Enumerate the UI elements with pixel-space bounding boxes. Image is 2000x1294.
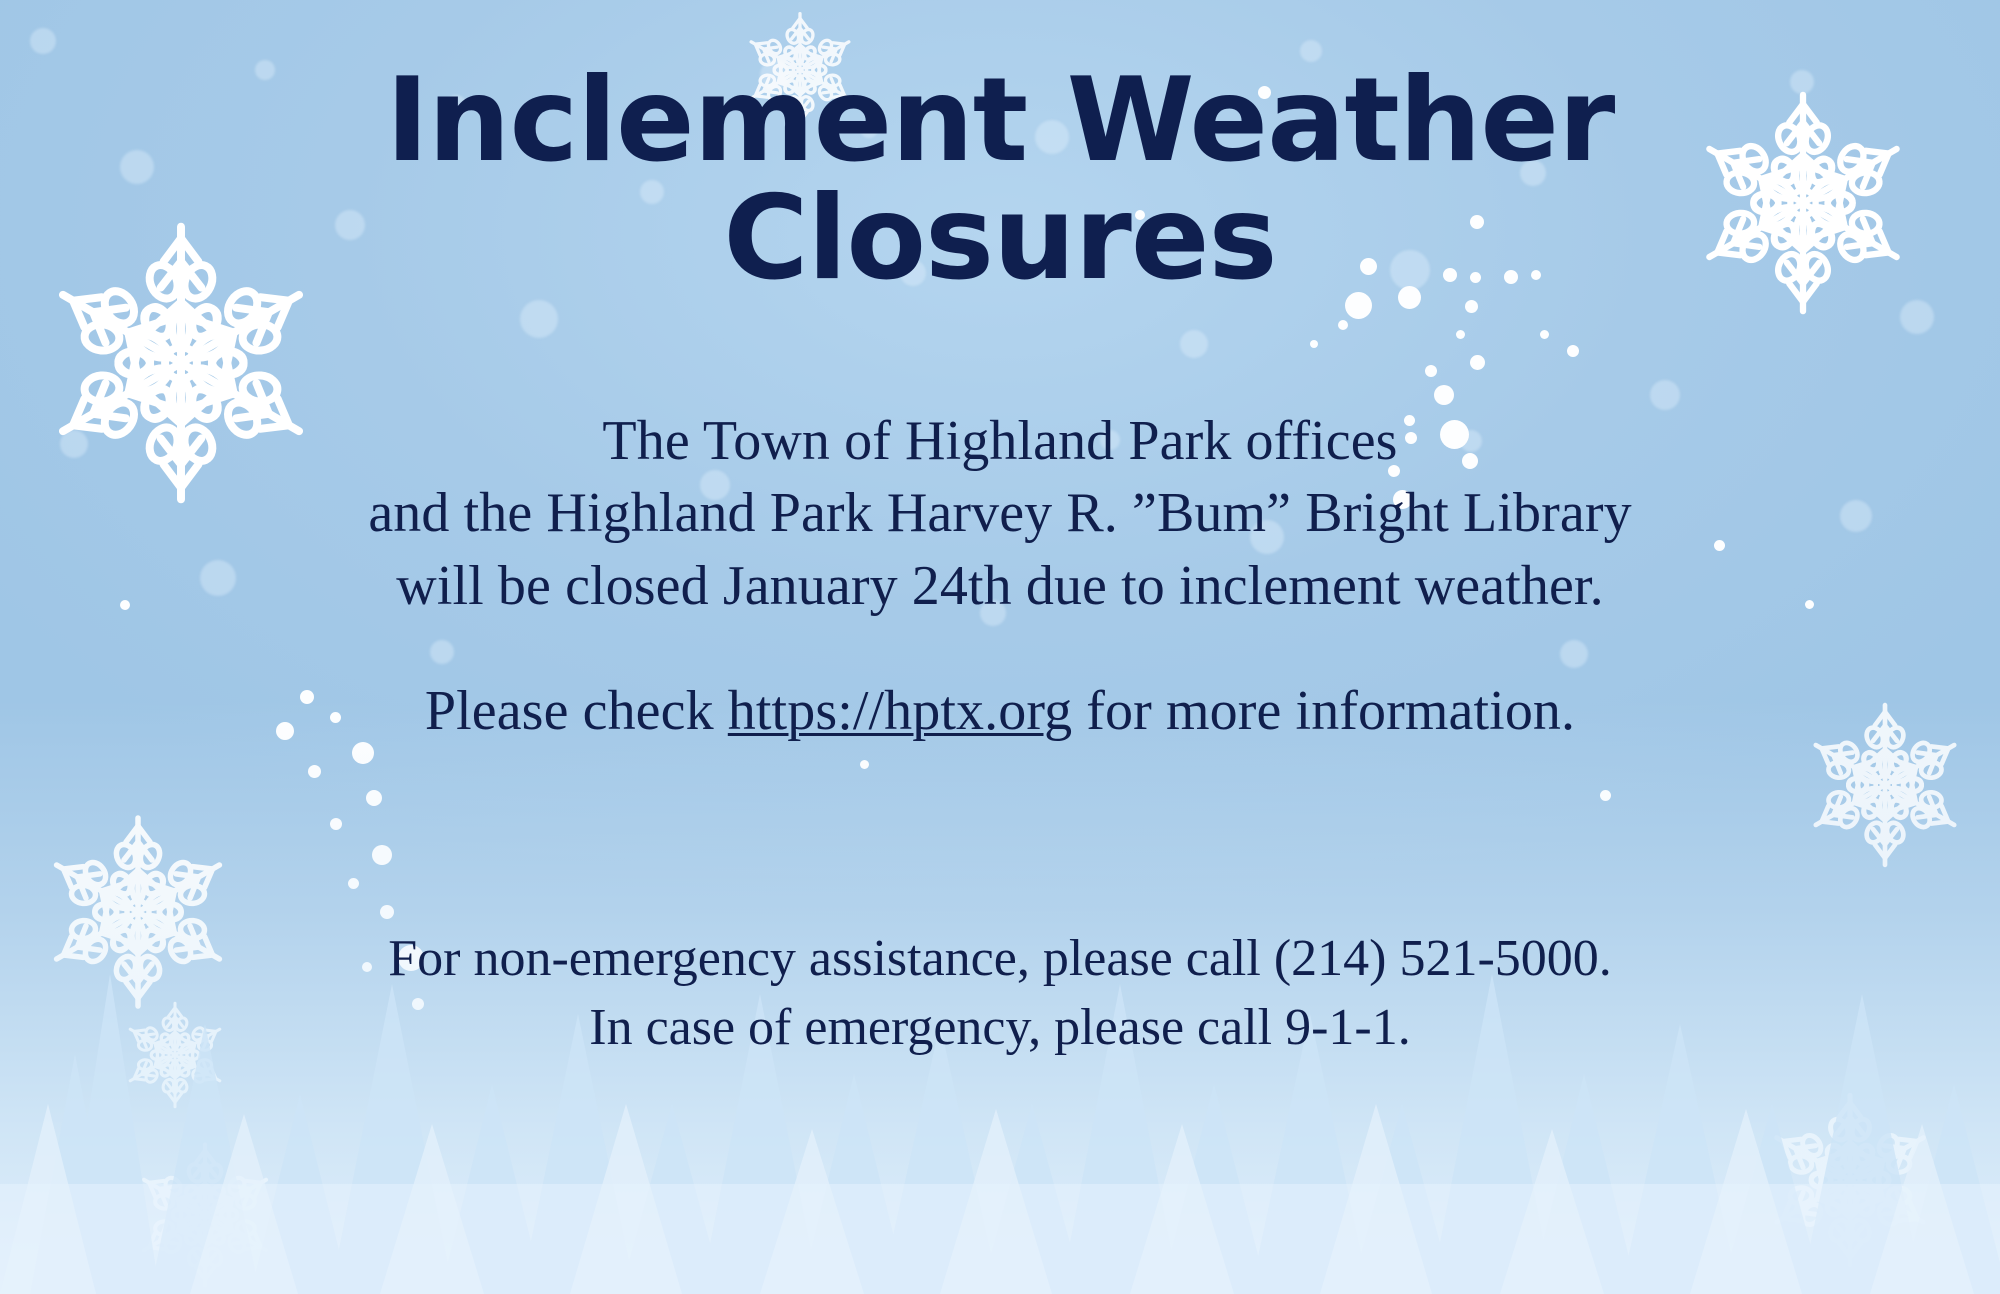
non-emergency-contact-line: For non-emergency assistance, please cal…: [40, 924, 1960, 994]
inclement-weather-poster: Inclement Weather Closures The Town of H…: [0, 0, 2000, 1294]
announcement-line-3: will be closed January 24th due to incle…: [40, 550, 1960, 623]
announcement-line-1: The Town of Highland Park offices: [40, 405, 1960, 478]
more-info-prefix: Please check: [425, 680, 728, 742]
more-info-suffix: for more information.: [1072, 680, 1575, 742]
poster-content: Inclement Weather Closures The Town of H…: [0, 0, 2000, 1294]
announcement-line-2: and the Highland Park Harvey R. ”Bum” Br…: [40, 477, 1960, 550]
page-title-line-2: Closures: [386, 180, 1615, 298]
announcement-block: The Town of Highland Park offices and th…: [40, 405, 1960, 748]
contact-block: For non-emergency assistance, please cal…: [40, 924, 1960, 1063]
hptx-website-link[interactable]: https://hptx.org: [728, 680, 1072, 742]
page-title: Inclement Weather Closures: [386, 62, 1615, 299]
more-info-line: Please check https://hptx.org for more i…: [40, 675, 1960, 748]
paragraph-spacer: [40, 623, 1960, 675]
emergency-contact-line: In case of emergency, please call 9-1-1.: [40, 993, 1960, 1063]
page-title-line-1: Inclement Weather: [386, 53, 1615, 188]
